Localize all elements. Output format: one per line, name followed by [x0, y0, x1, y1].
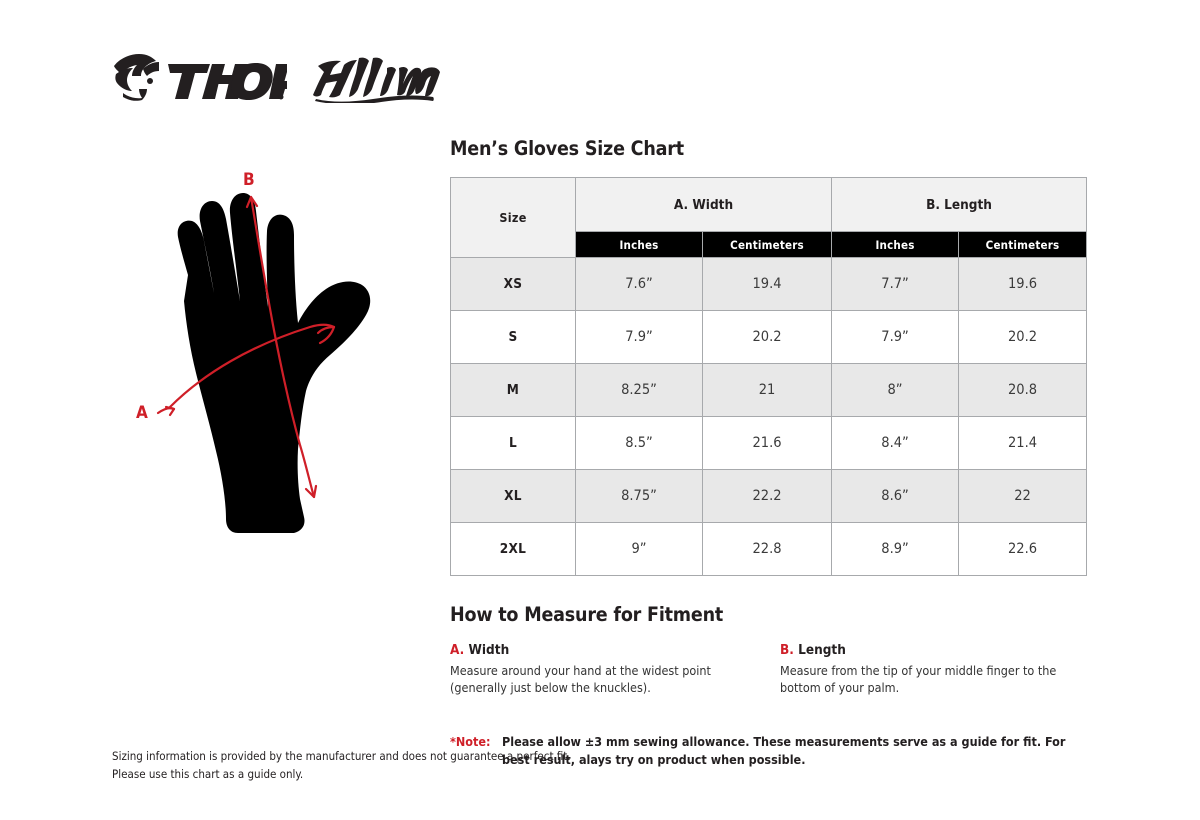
column-header-length-centimeters: Centimeters: [959, 232, 1087, 258]
cell-width-centimeters: 22.2: [703, 470, 832, 523]
thor-logo: [112, 51, 287, 107]
table-row: XL 8.75” 22.2 8.6” 22: [451, 470, 1087, 523]
column-header-width-centimeters: Centimeters: [703, 232, 832, 258]
cell-size: XL: [451, 470, 576, 523]
cell-width-inches: 8.25”: [576, 364, 703, 417]
cell-width-centimeters: 19.4: [703, 258, 832, 311]
table-header-row-groups: Size A. Width B. Length: [451, 178, 1087, 232]
page-title: Men’s Gloves Size Chart: [450, 138, 1088, 159]
cell-length-centimeters: 21.4: [959, 417, 1087, 470]
cell-width-inches: 9”: [576, 523, 703, 576]
measure-item-width: A. Width Measure around your hand at the…: [450, 642, 780, 697]
diagram-label-a: A: [136, 403, 148, 423]
column-header-width-inches: Inches: [576, 232, 703, 258]
measure-item-length-name: Length: [798, 642, 846, 658]
cell-size: 2XL: [451, 523, 576, 576]
measure-item-length-description: Measure from the tip of your middle fing…: [780, 662, 1086, 698]
column-group-width: A. Width: [576, 178, 832, 232]
measure-item-length: B. Length Measure from the tip of your m…: [780, 642, 1086, 697]
table-row: L 8.5” 21.6 8.4” 21.4: [451, 417, 1087, 470]
note-text: Please allow ±3 mm sewing allowance. The…: [502, 733, 1080, 769]
cell-length-centimeters: 19.6: [959, 258, 1087, 311]
column-header-length-inches: Inches: [832, 232, 959, 258]
diagram-label-b: B: [243, 170, 255, 190]
column-header-size: Size: [451, 178, 576, 258]
size-chart-page: B A Men’s Gloves Size Chart Size A. Widt…: [0, 0, 1200, 820]
cell-length-centimeters: 20.2: [959, 311, 1087, 364]
brand-bar: [112, 48, 472, 110]
measure-item-width-tag: A.: [450, 642, 464, 658]
cell-size: M: [451, 364, 576, 417]
cell-width-inches: 7.6”: [576, 258, 703, 311]
measure-item-length-tag: B.: [780, 642, 794, 658]
cell-size: L: [451, 417, 576, 470]
measure-item-width-name: Width: [469, 642, 510, 658]
cell-length-inches: 8.9”: [832, 523, 959, 576]
footer-line-1: Sizing information is provided by the ma…: [112, 748, 571, 766]
hallman-script-logo: [313, 55, 441, 103]
cell-size: XS: [451, 258, 576, 311]
cell-length-centimeters: 20.8: [959, 364, 1087, 417]
cell-length-inches: 8”: [832, 364, 959, 417]
cell-width-inches: 8.5”: [576, 417, 703, 470]
measure-item-width-description: Measure around your hand at the widest p…: [450, 662, 768, 698]
cell-size: S: [451, 311, 576, 364]
cell-width-inches: 8.75”: [576, 470, 703, 523]
size-chart-table: Size A. Width B. Length Inches Centimete…: [450, 177, 1087, 576]
cell-length-centimeters: 22.6: [959, 523, 1087, 576]
content-column: Men’s Gloves Size Chart Size A. Width B.…: [450, 138, 1088, 769]
cell-length-inches: 8.4”: [832, 417, 959, 470]
cell-length-inches: 7.7”: [832, 258, 959, 311]
cell-width-centimeters: 21.6: [703, 417, 832, 470]
cell-width-centimeters: 22.8: [703, 523, 832, 576]
cell-width-inches: 7.9”: [576, 311, 703, 364]
cell-length-centimeters: 22: [959, 470, 1087, 523]
table-row: M 8.25” 21 8” 20.8: [451, 364, 1087, 417]
footer-line-2: Please use this chart as a guide only.: [112, 766, 571, 784]
table-row: 2XL 9” 22.8 8.9” 22.6: [451, 523, 1087, 576]
measure-item-width-heading: A. Width: [450, 642, 768, 658]
cell-length-inches: 8.6”: [832, 470, 959, 523]
cell-length-inches: 7.9”: [832, 311, 959, 364]
cell-width-centimeters: 21: [703, 364, 832, 417]
cell-width-centimeters: 20.2: [703, 311, 832, 364]
hand-measurement-diagram: B A: [118, 165, 428, 540]
how-to-measure-title: How to Measure for Fitment: [450, 603, 1088, 626]
table-row: S 7.9” 20.2 7.9” 20.2: [451, 311, 1087, 364]
column-group-length: B. Length: [832, 178, 1087, 232]
table-row: XS 7.6” 19.4 7.7” 19.6: [451, 258, 1087, 311]
footer-disclaimer: Sizing information is provided by the ma…: [112, 748, 571, 784]
measure-item-length-heading: B. Length: [780, 642, 1086, 658]
how-to-measure-columns: A. Width Measure around your hand at the…: [450, 642, 1088, 697]
